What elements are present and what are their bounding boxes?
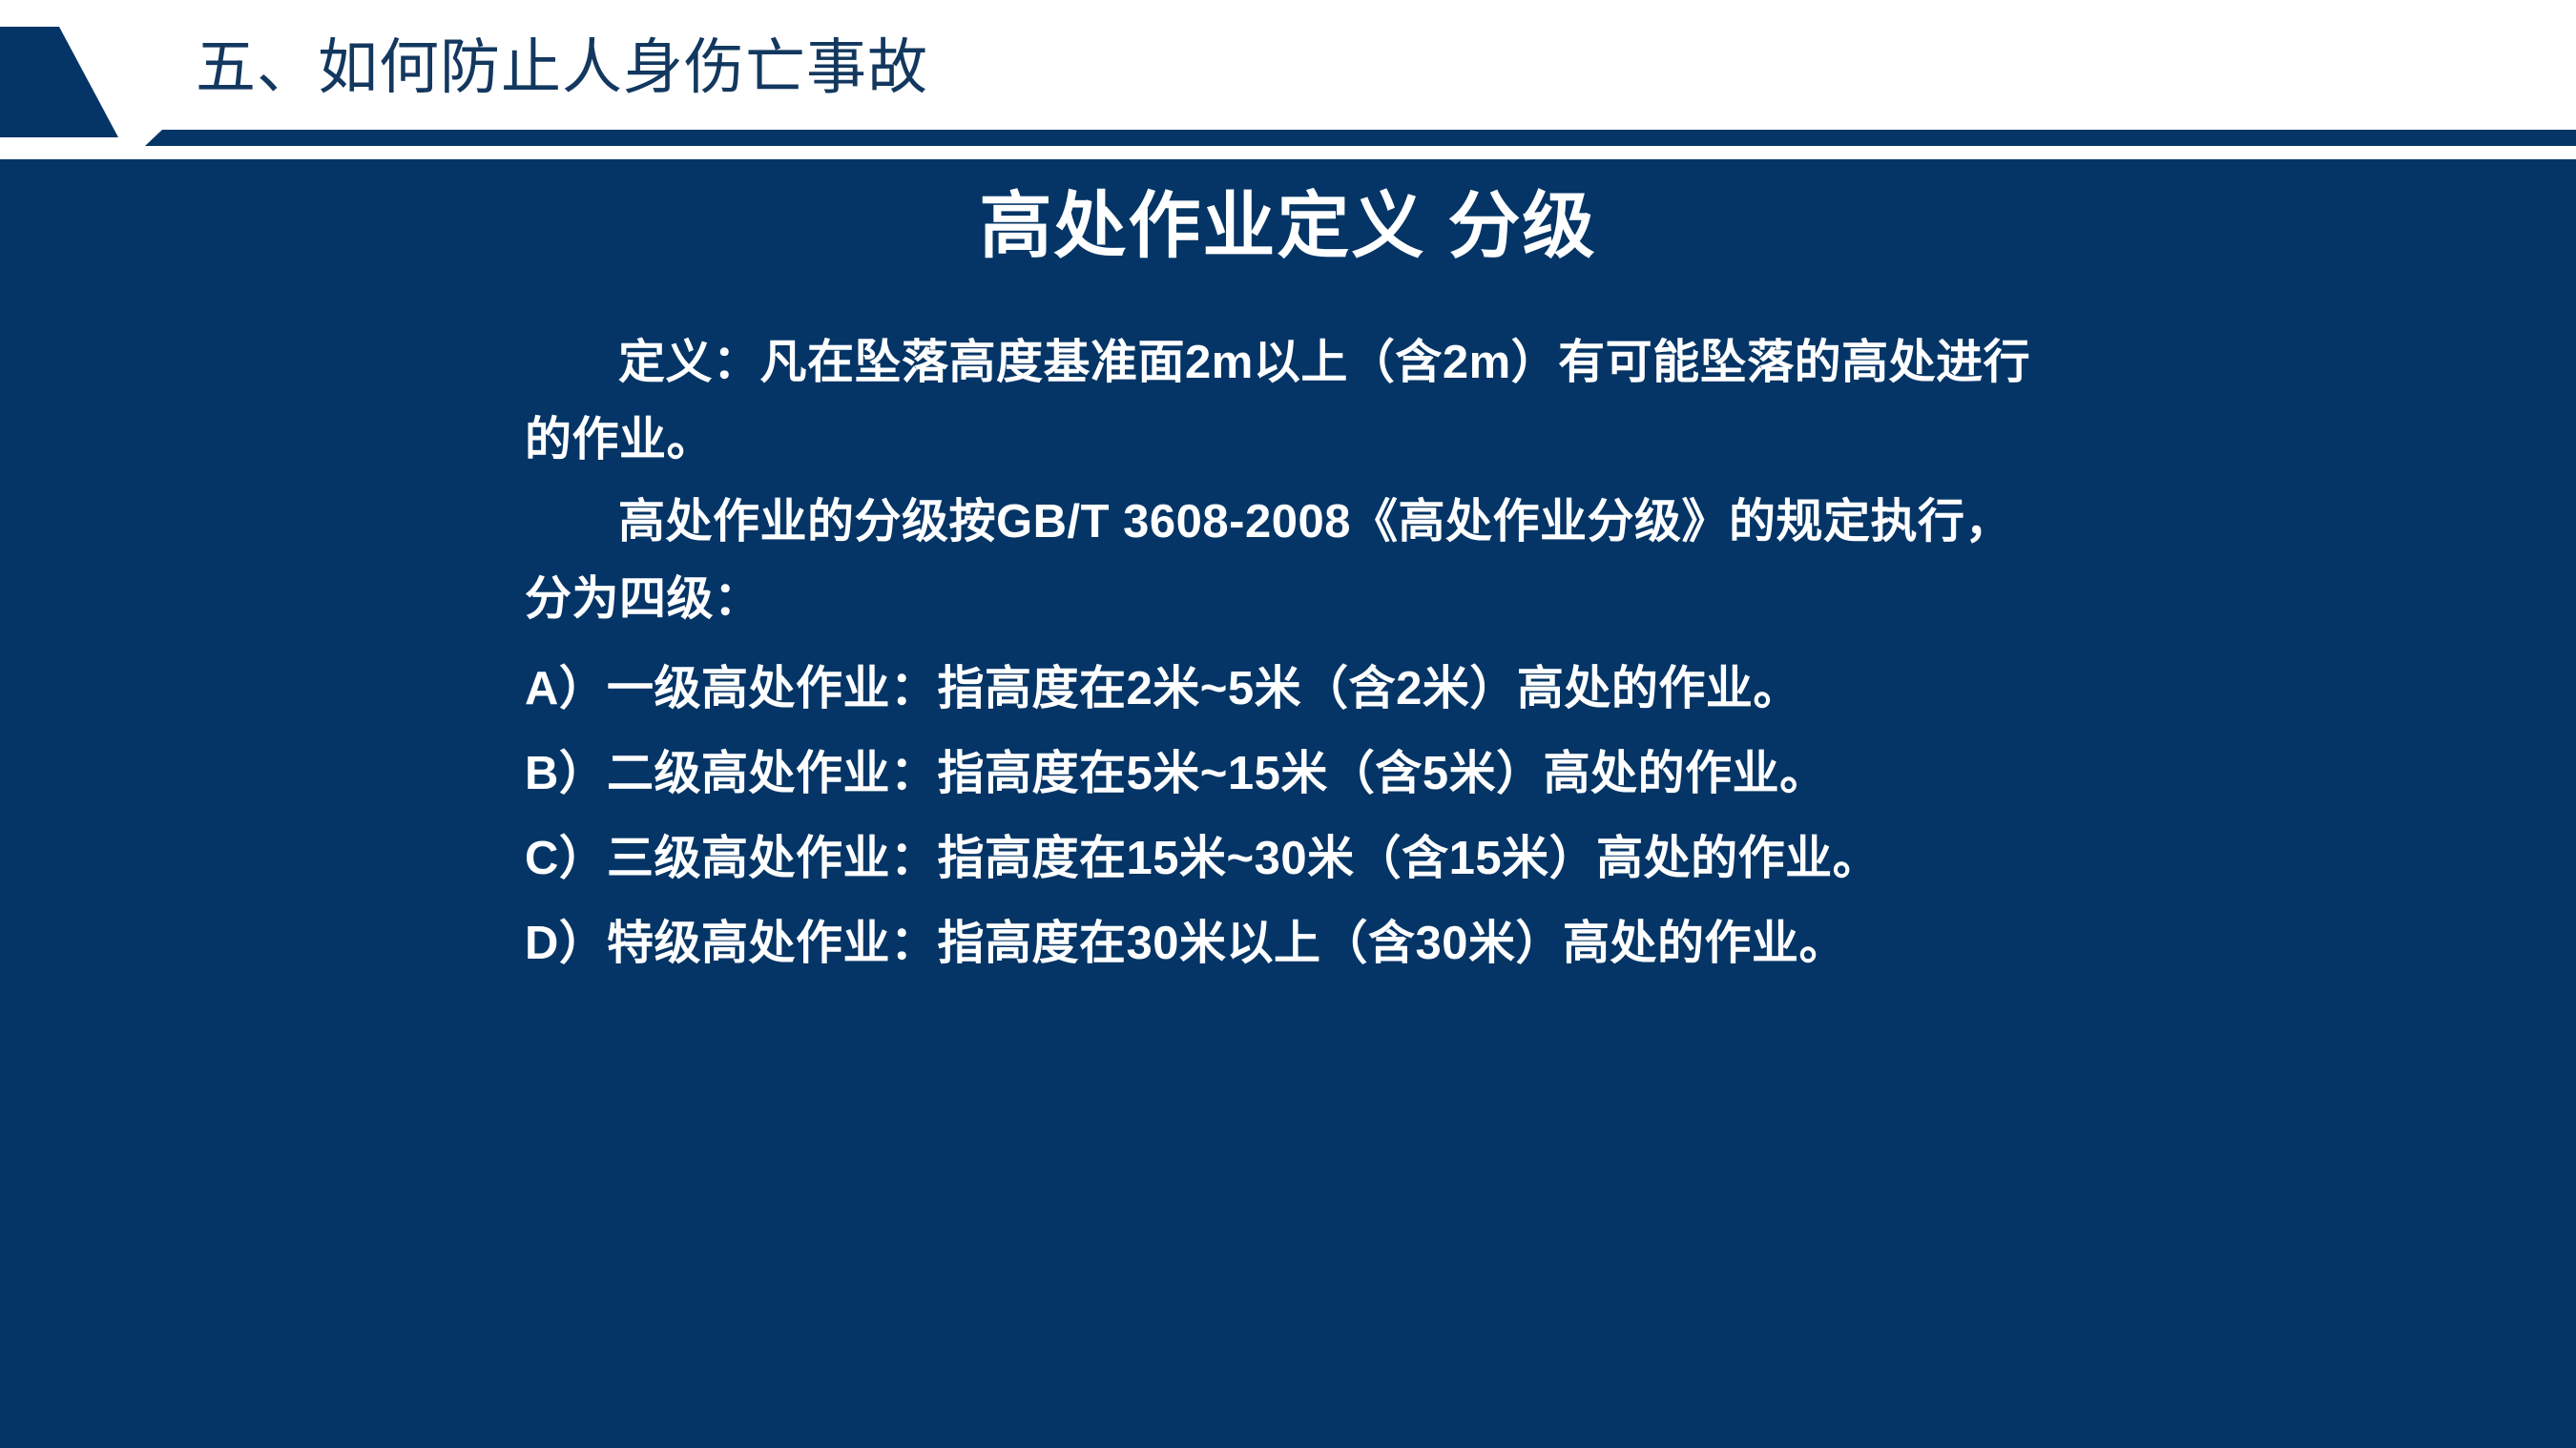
page-title: 高处作业定义 分级 bbox=[0, 167, 2576, 272]
content-body: 定义：凡在坠落高度基准面2m以上（含2m）有可能坠落的高处进行的作业。 高处作业… bbox=[525, 324, 2051, 983]
grading-standard-paragraph: 高处作业的分级按GB/T 3608-2008《高处作业分级》的规定执行，分为四级… bbox=[525, 484, 2051, 643]
list-item-marker: D） bbox=[525, 905, 607, 983]
header-section-title: 五、如何防止人身伤亡事故 bbox=[196, 15, 928, 120]
list-item: D）特级高处作业：指高度在30米以上（含30米）高处的作业。 bbox=[525, 898, 2051, 983]
list-item-label: 三级高处作业：指高度在15米~30米（含15米）高处的作业。 bbox=[607, 833, 1880, 884]
list-item-marker: C） bbox=[525, 820, 607, 898]
list-item-marker: A） bbox=[525, 651, 607, 728]
list-item: B）二级高处作业：指高度在5米~15米（含5米）高处的作业。 bbox=[525, 728, 2051, 813]
list-item: C）三级高处作业：指高度在15米~30米（含15米）高处的作业。 bbox=[525, 813, 2051, 898]
header-trapezoid-decoration bbox=[0, 27, 118, 137]
list-item-label: 二级高处作业：指高度在5米~15米（含5米）高处的作业。 bbox=[607, 748, 1827, 799]
header-underline-bar bbox=[145, 130, 2576, 146]
definition-paragraph: 定义：凡在坠落高度基准面2m以上（含2m）有可能坠落的高处进行的作业。 bbox=[525, 324, 2051, 484]
list-item: A）一级高处作业：指高度在2米~5米（含2米）高处的作业。 bbox=[525, 643, 2051, 728]
slide: 五、如何防止人身伤亡事故 高处作业定义 分级 定义：凡在坠落高度基准面2m以上（… bbox=[0, 0, 2576, 1448]
list-item-label: 特级高处作业：指高度在30米以上（含30米）高处的作业。 bbox=[607, 918, 1846, 969]
slide-header: 五、如何防止人身伤亡事故 bbox=[0, 0, 2576, 159]
list-item-label: 一级高处作业：指高度在2米~5米（含2米）高处的作业。 bbox=[607, 663, 1800, 714]
list-item-marker: B） bbox=[525, 735, 607, 813]
